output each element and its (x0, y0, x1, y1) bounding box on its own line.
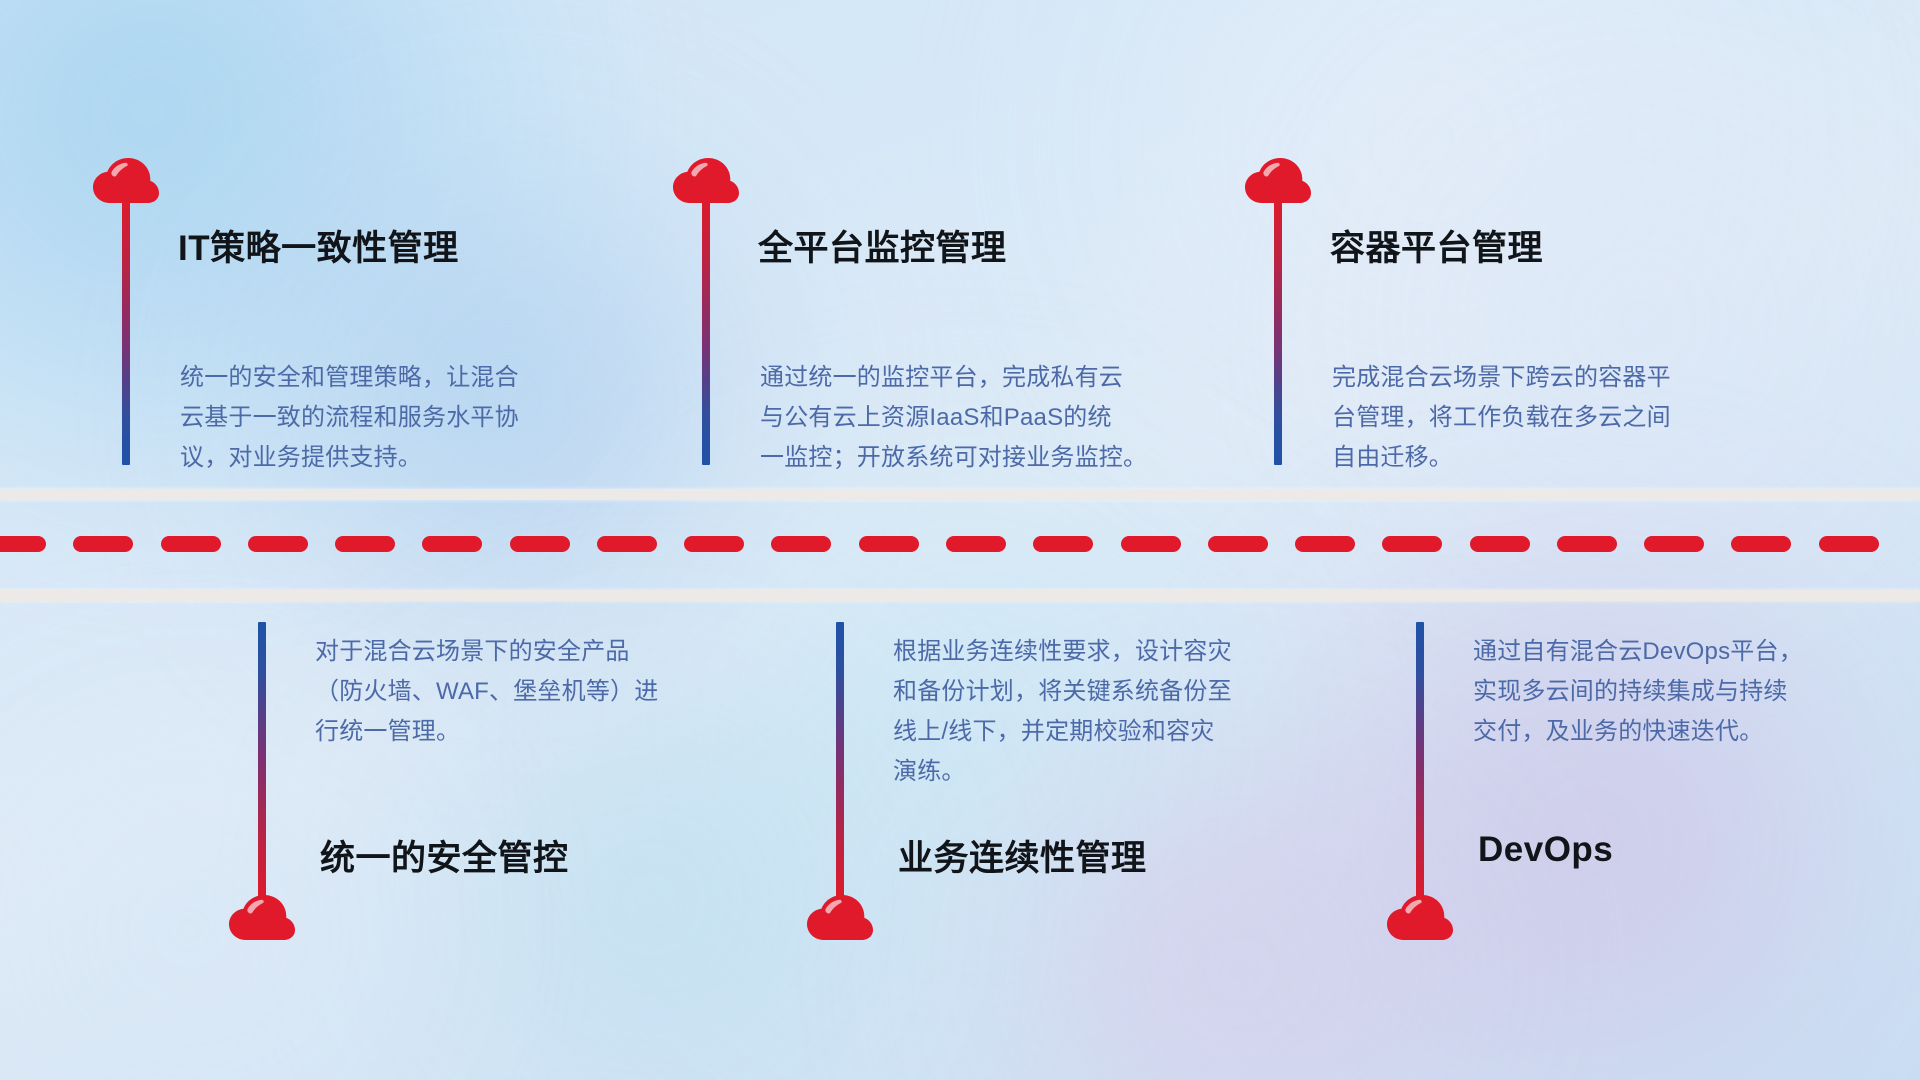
card-body: 统一的安全和管理策略，让混合 云基于一致的流程和服务水平协 议，对业务提供支持。 (180, 358, 610, 478)
divider-dash (1557, 536, 1617, 552)
divider-dash (0, 536, 46, 552)
card-heading: IT策略一致性管理 (178, 220, 459, 271)
divider-rail-top (0, 489, 1920, 500)
divider-dash (1644, 536, 1704, 552)
timeline-stem (258, 622, 266, 902)
divider-dash (1819, 536, 1879, 552)
card-heading: 容器平台管理 (1330, 220, 1543, 271)
divider-dash (510, 536, 570, 552)
divider-dash (946, 536, 1006, 552)
divider-dash (73, 536, 133, 552)
cloud-icon (1387, 895, 1453, 941)
divider-dash (1295, 536, 1355, 552)
card-heading: 业务连续性管理 (898, 830, 1147, 881)
divider-dashes (0, 536, 1920, 552)
card-heading: 统一的安全管控 (320, 830, 569, 881)
card-body: 根据业务连续性要求，设计容灾 和备份计划，将关键系统备份至 线上/线下，并定期校… (893, 632, 1323, 792)
divider-dash (161, 536, 221, 552)
divider-dash (248, 536, 308, 552)
card-heading: 全平台监控管理 (758, 220, 1007, 271)
divider-dash (1731, 536, 1791, 552)
cloud-icon (807, 895, 873, 941)
card-body: 对于混合云场景下的安全产品 （防火墙、WAF、堡垒机等）进 行统一管理。 (315, 632, 745, 752)
divider-dash (859, 536, 919, 552)
card-body: 通过自有混合云DevOps平台， 实现多云间的持续集成与持续 交付，及业务的快速… (1473, 632, 1903, 752)
divider-dash (771, 536, 831, 552)
divider-dash (1382, 536, 1442, 552)
infographic-canvas: IT策略一致性管理 统一的安全和管理策略，让混合 云基于一致的流程和服务水平协 … (0, 0, 1920, 1080)
card-heading: DevOps (1478, 830, 1613, 870)
divider-dash (335, 536, 395, 552)
timeline-stem (1274, 195, 1282, 465)
divider-dash (1470, 536, 1530, 552)
divider-dash (684, 536, 744, 552)
divider-dash (422, 536, 482, 552)
timeline-stem (702, 195, 710, 465)
divider-dash (1033, 536, 1093, 552)
cloud-icon (229, 895, 295, 941)
card-body: 通过统一的监控平台，完成私有云 与公有云上资源IaaS和PaaS的统 一监控；开… (760, 358, 1210, 478)
timeline-stem (1416, 622, 1424, 902)
card-body: 完成混合云场景下跨云的容器平 台管理，将工作负载在多云之间 自由迁移。 (1332, 358, 1772, 478)
divider-dash (1121, 536, 1181, 552)
divider-dash (597, 536, 657, 552)
timeline-stem (122, 195, 130, 465)
divider-rail-bottom (0, 590, 1920, 601)
timeline-stem (836, 622, 844, 902)
divider-dash (1208, 536, 1268, 552)
